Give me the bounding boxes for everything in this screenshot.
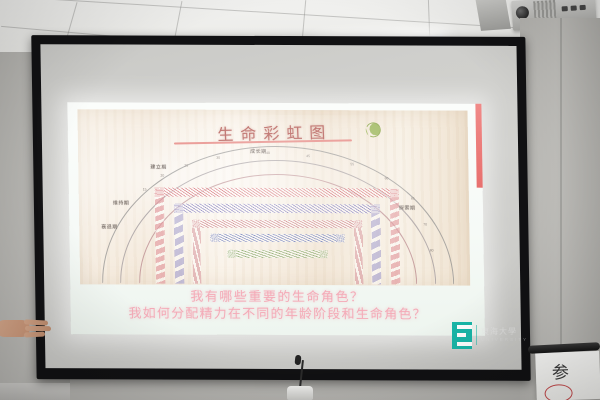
slide-questions: 我有哪些重要的生命角色？ 我如何分配精力在不同的年龄阶段和生命角色？ <box>70 288 485 323</box>
age-tick: 25 <box>184 164 188 168</box>
stage-label: 探索期 <box>399 204 416 211</box>
stage-label: 维持期 <box>113 199 130 206</box>
classroom-photo: 生命彩虹图 衰退期维持期建立期成长期探索期1520253040455560657… <box>0 0 600 400</box>
flipchart-paper: 参 <box>535 351 600 400</box>
age-tick: 40 <box>266 151 270 155</box>
flipchart-red-circle <box>544 384 573 400</box>
presentation-slide: 生命彩虹图 衰退期维持期建立期成长期探索期1520253040455560657… <box>67 102 485 335</box>
microphone-base <box>287 386 313 400</box>
flipchart-ink: 参 <box>551 358 569 384</box>
age-tick: 80 <box>430 249 434 253</box>
life-career-rainbow: 衰退期维持期建立期成长期探索期1520253040455560657080儿童/… <box>98 141 456 284</box>
age-tick: 15 <box>143 188 147 192</box>
projector-port <box>580 5 586 10</box>
slide-accent-bar <box>475 104 482 188</box>
age-tick: 45 <box>306 154 310 158</box>
projector-port <box>562 6 568 11</box>
baseboard <box>0 383 70 400</box>
logo-cn-name: 東海大學 <box>481 328 528 336</box>
age-tick: 60 <box>385 176 389 180</box>
age-tick: 65 <box>411 196 415 200</box>
projector-mount <box>475 0 511 31</box>
question-line-2: 我如何分配精力在不同的年龄阶段和生命角色？ <box>71 305 485 323</box>
age-tick: 55 <box>350 162 354 166</box>
teal-e-logo-icon <box>452 322 472 349</box>
stage-label: 衰退期 <box>101 223 118 230</box>
age-tick: 70 <box>423 222 427 226</box>
screen-surface: 生命彩虹图 衰退期维持期建立期成长期探索期1520253040455560657… <box>40 44 521 370</box>
projector-port <box>571 5 577 10</box>
question-line-1: 我有哪些重要的生命角色？ <box>70 288 484 306</box>
logo-en-name: UNIVERSITY <box>481 338 528 343</box>
age-tick: 30 <box>216 156 220 160</box>
hand-finger <box>25 326 51 331</box>
logo-divider <box>476 325 477 345</box>
scanned-paper-photo: 生命彩虹图 衰退期维持期建立期成长期探索期1520253040455560657… <box>77 109 470 285</box>
wall-seam <box>560 18 562 400</box>
stage-label: 建立期 <box>150 164 167 171</box>
stage-label: 成长期 <box>250 148 267 155</box>
presenter-hand <box>0 316 56 342</box>
hand-finger <box>24 331 45 337</box>
age-tick: 20 <box>160 174 164 178</box>
logo-text: 東海大學 UNIVERSITY <box>481 328 528 343</box>
